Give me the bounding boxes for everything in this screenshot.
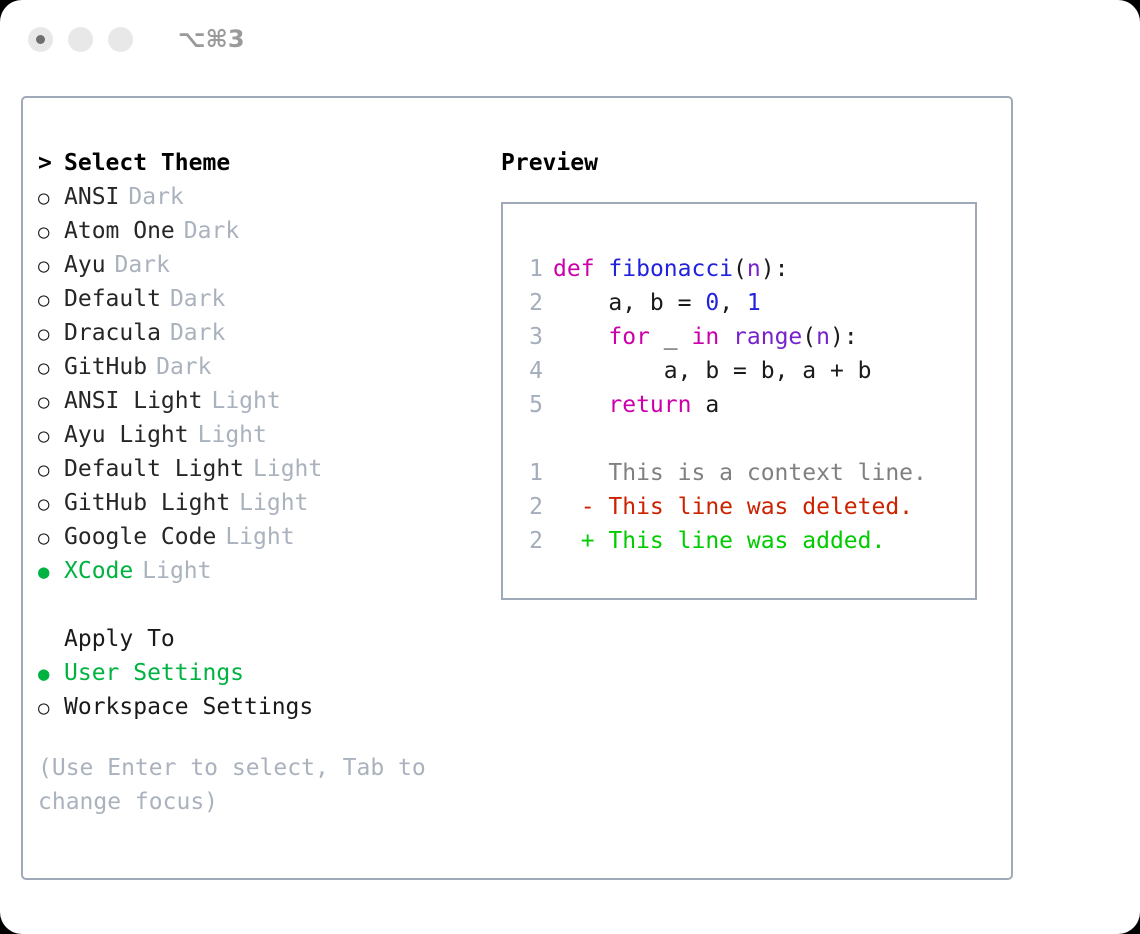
theme-name: ANSI Light (64, 384, 202, 418)
select-theme-title: Select Theme (64, 146, 230, 180)
theme-selector-column: Select Theme ANSIDarkAtom OneDarkAyuDark… (38, 146, 478, 724)
keyboard-hint-text: (Use Enter to select, Tab to change focu… (38, 751, 458, 819)
theme-name: XCode (64, 554, 133, 588)
code-token (719, 324, 733, 350)
line-number: 1 (517, 252, 543, 286)
select-theme-header: Select Theme (38, 146, 478, 180)
theme-list-item[interactable]: GitHub LightLight (38, 486, 478, 520)
code-token: def (553, 256, 595, 282)
theme-kind-badge: Light (142, 554, 211, 588)
apply-to-title: Apply To (64, 622, 175, 656)
theme-name: Atom One (64, 214, 175, 248)
code-token (595, 256, 609, 282)
line-number: 4 (517, 354, 543, 388)
code-token: a, b = b, a + b (553, 358, 872, 384)
code-line: 2 a, b = 0, 1 (517, 286, 967, 320)
theme-name: Dracula (64, 316, 161, 350)
radio-unselected-icon (38, 350, 64, 385)
theme-kind-badge: Light (253, 452, 322, 486)
radio-unselected-icon (38, 248, 64, 283)
theme-name: Default Light (64, 452, 244, 486)
code-token: ( (733, 256, 747, 282)
theme-kind-badge: Dark (115, 248, 170, 282)
radio-unselected-icon (38, 486, 64, 521)
line-number: 1 (517, 456, 543, 490)
apply-to-option[interactable]: User Settings (38, 656, 478, 690)
code-token: ): (761, 256, 789, 282)
theme-list-item[interactable]: DraculaDark (38, 316, 478, 350)
theme-list: ANSIDarkAtom OneDarkAyuDarkDefaultDarkDr… (38, 180, 478, 588)
preview-column: Preview 1def fibonacci(n):2 a, b = 0, 13… (501, 146, 991, 600)
theme-list-item[interactable]: ANSIDark (38, 180, 478, 214)
theme-kind-badge: Light (225, 520, 294, 554)
code-token: 1 (747, 290, 761, 316)
caret-icon (38, 146, 64, 180)
theme-kind-badge: Dark (170, 282, 225, 316)
theme-name: ANSI (64, 180, 119, 214)
radio-unselected-icon (38, 520, 64, 555)
code-token: 0 (705, 290, 719, 316)
code-token: in (691, 324, 719, 350)
theme-kind-badge: Dark (170, 316, 225, 350)
theme-kind-badge: Dark (184, 214, 239, 248)
theme-name: Ayu Light (64, 418, 189, 452)
main-panel: Select Theme ANSIDarkAtom OneDarkAyuDark… (21, 96, 1013, 880)
diff-line: 2 - This line was deleted. (517, 490, 967, 524)
radio-selected-icon (38, 656, 64, 691)
theme-list-item[interactable]: Ayu LightLight (38, 418, 478, 452)
theme-name: GitHub Light (64, 486, 230, 520)
theme-list-item[interactable]: Atom OneDark (38, 214, 478, 248)
code-token: range (733, 324, 802, 350)
diff-line: 1 This is a context line. (517, 456, 967, 490)
theme-list-item[interactable]: DefaultDark (38, 282, 478, 316)
radio-unselected-icon (38, 316, 64, 351)
code-line-text: a, b = 0, 1 (553, 286, 761, 320)
code-token: a (691, 392, 719, 418)
code-line: 5 return a (517, 388, 967, 422)
window-titlebar: ⌥⌘3 (0, 0, 1140, 78)
radio-unselected-icon (38, 452, 64, 487)
line-number: 2 (517, 490, 543, 524)
diff-line-text: - This line was deleted. (553, 490, 913, 524)
line-number: 3 (517, 320, 543, 354)
apply-to-option[interactable]: Workspace Settings (38, 690, 478, 724)
apply-to-option-list: User SettingsWorkspace Settings (38, 656, 478, 724)
close-dot-icon (36, 35, 45, 44)
code-token: return (608, 392, 691, 418)
theme-name: GitHub (64, 350, 147, 384)
radio-unselected-icon (38, 690, 64, 725)
code-token: , (719, 290, 747, 316)
theme-list-item[interactable]: Google CodeLight (38, 520, 478, 554)
radio-unselected-icon (38, 418, 64, 453)
minimize-window-button[interactable] (68, 27, 93, 52)
radio-unselected-icon (38, 384, 64, 419)
apply-to-header: Apply To (38, 622, 478, 656)
code-line: 3 for _ in range(n): (517, 320, 967, 354)
line-number: 2 (517, 286, 543, 320)
code-line-text: return a (553, 388, 719, 422)
radio-unselected-icon (38, 214, 64, 249)
code-line-text: a, b = b, a + b (553, 354, 872, 388)
theme-list-item[interactable]: GitHubDark (38, 350, 478, 384)
preview-box: 1def fibonacci(n):2 a, b = 0, 13 for _ i… (501, 202, 977, 600)
code-token: ): (830, 324, 858, 350)
radio-unselected-icon (38, 180, 64, 215)
apply-to-group: Apply To User SettingsWorkspace Settings (38, 622, 478, 724)
theme-name: Google Code (64, 520, 216, 554)
radio-unselected-icon (38, 282, 64, 317)
diff-line-text: This is a context line. (553, 456, 927, 490)
theme-list-item[interactable]: XCodeLight (38, 554, 478, 588)
code-token: ( (802, 324, 816, 350)
theme-list-item[interactable]: ANSI LightLight (38, 384, 478, 418)
diff-sample: 1 This is a context line.2 - This line w… (517, 456, 967, 558)
preview-divider-space (517, 422, 967, 456)
code-line: 1def fibonacci(n): (517, 252, 967, 286)
line-number: 2 (517, 524, 543, 558)
line-number: 5 (517, 388, 543, 422)
code-line-text: def fibonacci(n): (553, 252, 788, 286)
code-sample: 1def fibonacci(n):2 a, b = 0, 13 for _ i… (517, 252, 967, 422)
close-window-button[interactable] (28, 27, 53, 52)
maximize-window-button[interactable] (108, 27, 133, 52)
code-token: n (816, 324, 830, 350)
theme-kind-badge: Light (198, 418, 267, 452)
theme-kind-badge: Light (239, 486, 308, 520)
theme-list-item[interactable]: Default LightLight (38, 452, 478, 486)
theme-kind-badge: Light (211, 384, 280, 418)
theme-name: Ayu (64, 248, 106, 282)
code-line-text: for _ in range(n): (553, 320, 858, 354)
spacer-icon (38, 622, 64, 656)
code-token: for (608, 324, 650, 350)
keyboard-shortcut-label: ⌥⌘3 (178, 25, 245, 53)
code-token: a, b = (553, 290, 705, 316)
apply-to-option-label: Workspace Settings (64, 690, 313, 724)
apply-to-option-label: User Settings (64, 656, 244, 690)
code-token: _ (650, 324, 692, 350)
app-window: ⌥⌘3 Select Theme ANSIDarkAtom OneDarkAyu… (0, 0, 1140, 934)
theme-list-item[interactable]: AyuDark (38, 248, 478, 282)
radio-selected-icon (38, 554, 64, 589)
code-token (553, 324, 608, 350)
code-token: n (747, 256, 761, 282)
theme-kind-badge: Dark (128, 180, 183, 214)
theme-name: Default (64, 282, 161, 316)
code-preview-area: 1def fibonacci(n):2 a, b = 0, 13 for _ i… (517, 252, 967, 558)
code-token: fibonacci (608, 256, 733, 282)
preview-heading: Preview (501, 146, 991, 180)
diff-line: 2 + This line was added. (517, 524, 967, 558)
code-token (553, 392, 608, 418)
code-line: 4 a, b = b, a + b (517, 354, 967, 388)
diff-line-text: + This line was added. (553, 524, 885, 558)
theme-kind-badge: Dark (156, 350, 211, 384)
